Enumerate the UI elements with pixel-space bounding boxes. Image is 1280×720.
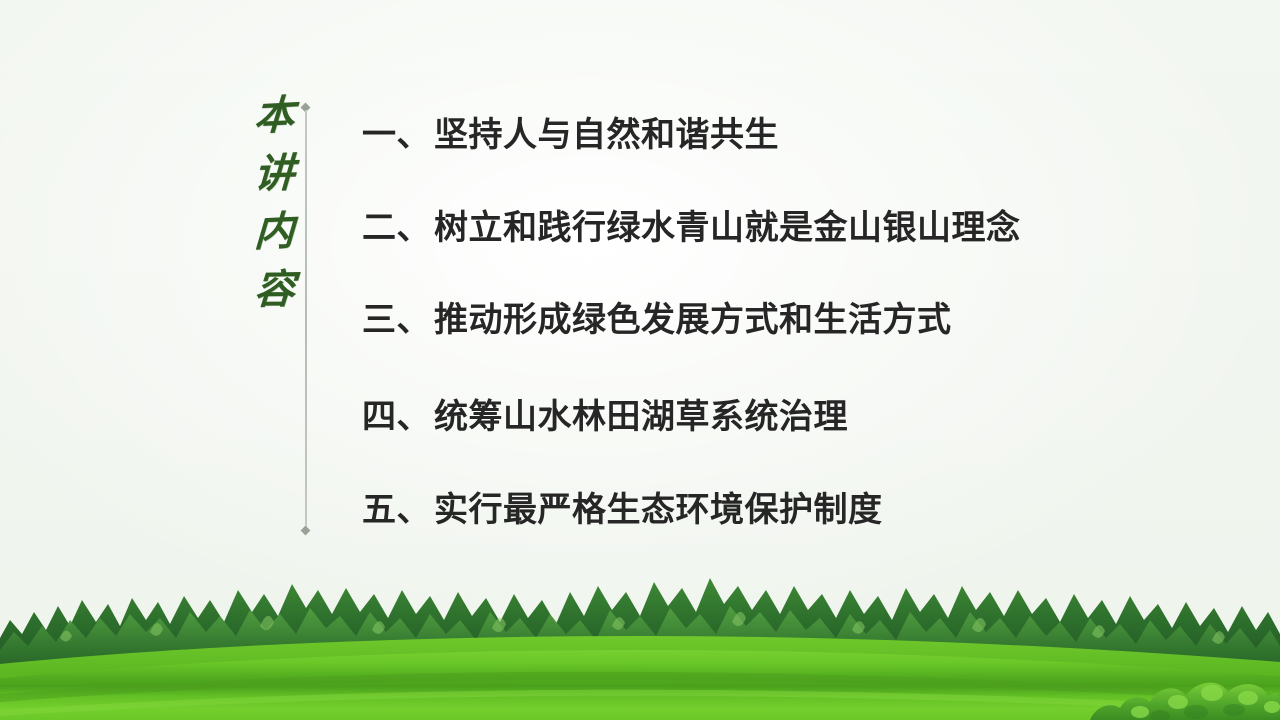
divider-line (305, 110, 307, 528)
agenda-item-1-label: 坚持人与自然和谐共生 (434, 118, 779, 152)
agenda-item-3-marker: 三、 (362, 303, 434, 337)
vertical-title-char-2: 讲 (253, 153, 295, 206)
vertical-divider (304, 104, 307, 534)
vertical-title-char-3: 内 (253, 211, 295, 265)
agenda-item-5[interactable]: 五、 实行最严格生态环境保护制度 (362, 493, 883, 527)
vertical-title: 本 讲 内 容 (243, 96, 305, 536)
agenda-item-5-marker: 五、 (362, 493, 434, 527)
agenda-item-4[interactable]: 四、 统筹山水林田湖草系统治理 (362, 400, 848, 434)
agenda-item-2-marker: 二、 (362, 211, 434, 245)
agenda-item-4-marker: 四、 (362, 400, 434, 434)
agenda-item-2[interactable]: 二、 树立和践行绿水青山就是金山银山理念 (362, 211, 1021, 245)
agenda-item-1-marker: 一、 (362, 118, 434, 152)
vertical-title-char-4: 容 (252, 270, 296, 323)
landscape-illustration (0, 560, 1280, 720)
agenda-item-1[interactable]: 一、 坚持人与自然和谐共生 (362, 118, 779, 152)
agenda-item-3-label: 推动形成绿色发展方式和生活方式 (434, 303, 952, 337)
agenda-item-2-label: 树立和践行绿水青山就是金山银山理念 (434, 211, 1021, 245)
vertical-title-char-1: 本 (253, 95, 296, 149)
agenda-item-5-label: 实行最严格生态环境保护制度 (434, 493, 883, 527)
agenda-item-3[interactable]: 三、 推动形成绿色发展方式和生活方式 (362, 303, 952, 337)
agenda-item-4-label: 统筹山水林田湖草系统治理 (434, 400, 848, 434)
slide-canvas: 本 讲 内 容 一、 坚持人与自然和谐共生 二、 树立和践行绿水青山就是金山银山… (0, 0, 1280, 720)
